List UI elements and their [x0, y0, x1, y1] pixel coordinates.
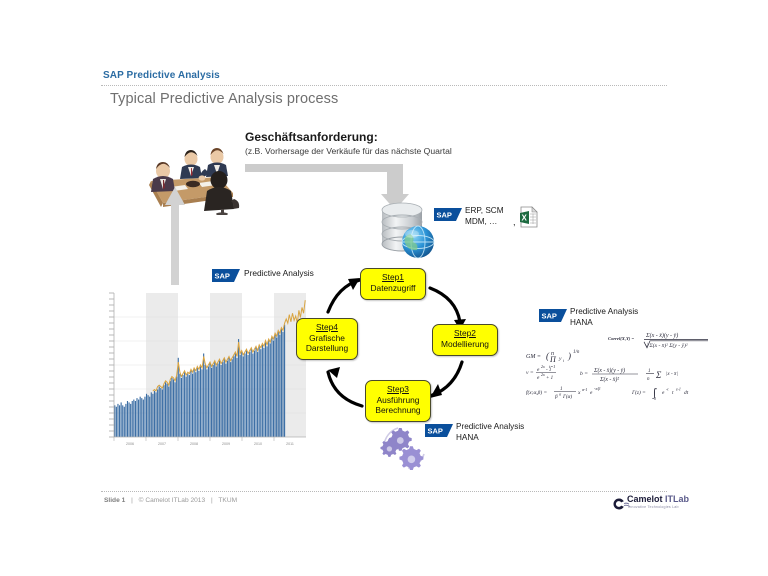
svg-text:y: y	[558, 356, 562, 362]
hana-right-line-2: HANA	[570, 318, 593, 327]
predictive-analysis-cycle: Step1 Datenzugriff Step2 Modellierung St…	[290, 258, 520, 438]
step-4-label-line-2: Darstellung	[301, 343, 353, 354]
source-separator: ,	[513, 217, 516, 227]
step-2-number: Step2	[437, 328, 493, 339]
svg-text:2x: 2x	[541, 372, 545, 377]
step-3-number: Step3	[370, 384, 426, 395]
footer-divider	[101, 491, 667, 492]
svg-text:0: 0	[654, 396, 656, 400]
logo-word-itlab: ITLab	[665, 494, 689, 504]
svg-text:-t: -t	[666, 387, 669, 392]
hana-bottom-line-1: Predictive Analysis	[456, 422, 524, 431]
step-3-label-line-2: Berechnung	[370, 405, 426, 416]
business-requirement-title: Geschäftsanforderung:	[245, 130, 378, 144]
hana-right-line-1: Predictive Analysis	[570, 307, 638, 316]
hana-label-bottom: Predictive Analysis HANA	[456, 421, 524, 443]
step-4-number: Step4	[301, 322, 353, 333]
gears-icon	[378, 424, 430, 470]
svg-text:2x: 2x	[541, 364, 545, 369]
business-meeting-illustration	[133, 133, 243, 215]
footer-meta: Slide 1 | © Camelot ITLab 2013 | TKUM	[104, 497, 237, 504]
svg-text:1/n: 1/n	[573, 350, 580, 355]
svg-text:f(x;α,β) =: f(x;α,β) =	[526, 389, 547, 396]
footer-separator-1: |	[127, 497, 137, 504]
svg-text:n: n	[647, 377, 650, 382]
cycle-step-3[interactable]: Step3 Ausführung Berechnung	[365, 380, 431, 422]
svg-text:2006: 2006	[126, 442, 134, 446]
page-title: Typical Predictive Analysis process	[110, 91, 338, 107]
svg-text:X: X	[522, 214, 528, 223]
svg-text:z-1: z-1	[675, 387, 681, 392]
svg-text:SAP: SAP	[215, 272, 230, 281]
sap-logo-icon: SAP	[425, 424, 453, 437]
svg-text:GM =: GM =	[526, 354, 541, 360]
step-1-number: Step1	[365, 272, 421, 283]
business-requirement-subtitle: (z.B. Vorhersage der Verkäufe für das nä…	[245, 146, 452, 156]
step-2-label: Modellierung	[437, 339, 493, 350]
slide-canvas: SAP Predictive Analysis Typical Predicti…	[0, 0, 768, 576]
footer-author: TKUM	[218, 497, 237, 504]
svg-text:e: e	[537, 367, 540, 373]
svg-text:+ 1: + 1	[546, 376, 553, 381]
svg-text:2008: 2008	[190, 442, 198, 446]
sap-logo-icon: SAP	[212, 269, 240, 282]
svg-text:t: t	[672, 390, 674, 396]
predictive-analysis-chart: 200620072008200920102011	[92, 285, 310, 457]
svg-text:|x - x̄|: |x - x̄|	[666, 371, 678, 377]
logo-tagline: Innovative Technologies Lab	[628, 505, 679, 509]
svg-text:b =: b =	[580, 371, 588, 377]
svg-text:e: e	[662, 390, 665, 396]
step-4-label-line-1: Grafische	[301, 333, 353, 344]
source-line-2: MDM, …	[465, 217, 497, 226]
svg-text:√ Σ(x - x̄)² Σ(y - ȳ)²: √ Σ(x - x̄)² Σ(y - ȳ)²	[645, 342, 688, 349]
header-divider	[101, 85, 667, 86]
chart-plot-area: 200620072008200920102011	[92, 285, 310, 457]
database-icon	[376, 198, 438, 260]
svg-text:x: x	[577, 390, 581, 396]
logo-wordmark: Camelot ITLab	[627, 494, 689, 504]
svg-text:2010: 2010	[254, 442, 262, 446]
step-3-label-line-1: Ausführung	[370, 395, 426, 406]
svg-text:2009: 2009	[222, 442, 230, 446]
flow-arrow-up-to-meeting	[163, 185, 187, 295]
svg-text:α: α	[559, 392, 562, 397]
statistical-formulas-illustration: Correl(X,Y) = Σ(x - x̄)(y - ȳ) √ Σ(x - x…	[524, 328, 720, 400]
svg-text:Σ(x - x̄)(y - ȳ): Σ(x - x̄)(y - ȳ)	[593, 367, 625, 374]
svg-text:Σ(x - x̄)(y - ȳ): Σ(x - x̄)(y - ȳ)	[645, 332, 678, 339]
cycle-step-2[interactable]: Step2 Modellierung	[432, 324, 498, 356]
svg-text:e: e	[590, 390, 593, 396]
svg-text:Π: Π	[549, 355, 557, 364]
data-sources-label: ERP, SCM MDM, …	[465, 205, 504, 227]
step-1-label: Datenzugriff	[365, 283, 421, 294]
footer-copyright: © Camelot ITLab 2013	[139, 497, 205, 504]
logo-word-camelot: Camelot	[627, 494, 663, 504]
source-line-1: ERP, SCM	[465, 206, 504, 215]
svg-text:dt: dt	[684, 390, 689, 396]
svg-text:Σ(x - x̄)²: Σ(x - x̄)²	[599, 376, 619, 383]
svg-text:Correl(X,Y) =: Correl(X,Y) =	[608, 336, 634, 341]
svg-text:Σ: Σ	[655, 370, 662, 380]
eyebrow-label: SAP Predictive Analysis	[103, 70, 220, 81]
hana-bottom-line-2: HANA	[456, 433, 479, 442]
svg-text:SAP: SAP	[437, 211, 452, 220]
excel-file-icon: X	[519, 206, 539, 228]
svg-text:SAP: SAP	[542, 312, 557, 321]
sap-logo-icon: SAP	[434, 208, 462, 221]
svg-text:v =: v =	[526, 370, 534, 376]
slide-number: Slide 1	[104, 497, 125, 504]
cycle-step-4[interactable]: Step4 Grafische Darstellung	[296, 318, 358, 360]
svg-text:β: β	[554, 394, 558, 400]
svg-text:Γ(α): Γ(α)	[562, 393, 572, 400]
svg-text:i: i	[563, 358, 564, 363]
svg-text:2007: 2007	[158, 442, 166, 446]
cycle-step-1[interactable]: Step1 Datenzugriff	[360, 268, 426, 300]
sap-logo-icon: SAP	[539, 309, 567, 322]
hana-label-right: Predictive Analysis HANA	[570, 306, 638, 328]
svg-text:): )	[567, 351, 571, 361]
svg-text:Γ(z) =: Γ(z) =	[631, 389, 646, 396]
footer-separator-2: |	[207, 497, 217, 504]
svg-text:SAP: SAP	[428, 427, 443, 436]
svg-text:e: e	[537, 375, 540, 381]
svg-text:-x/β: -x/β	[594, 386, 600, 391]
svg-text:2011: 2011	[286, 442, 294, 446]
svg-text:α-1: α-1	[582, 387, 587, 392]
